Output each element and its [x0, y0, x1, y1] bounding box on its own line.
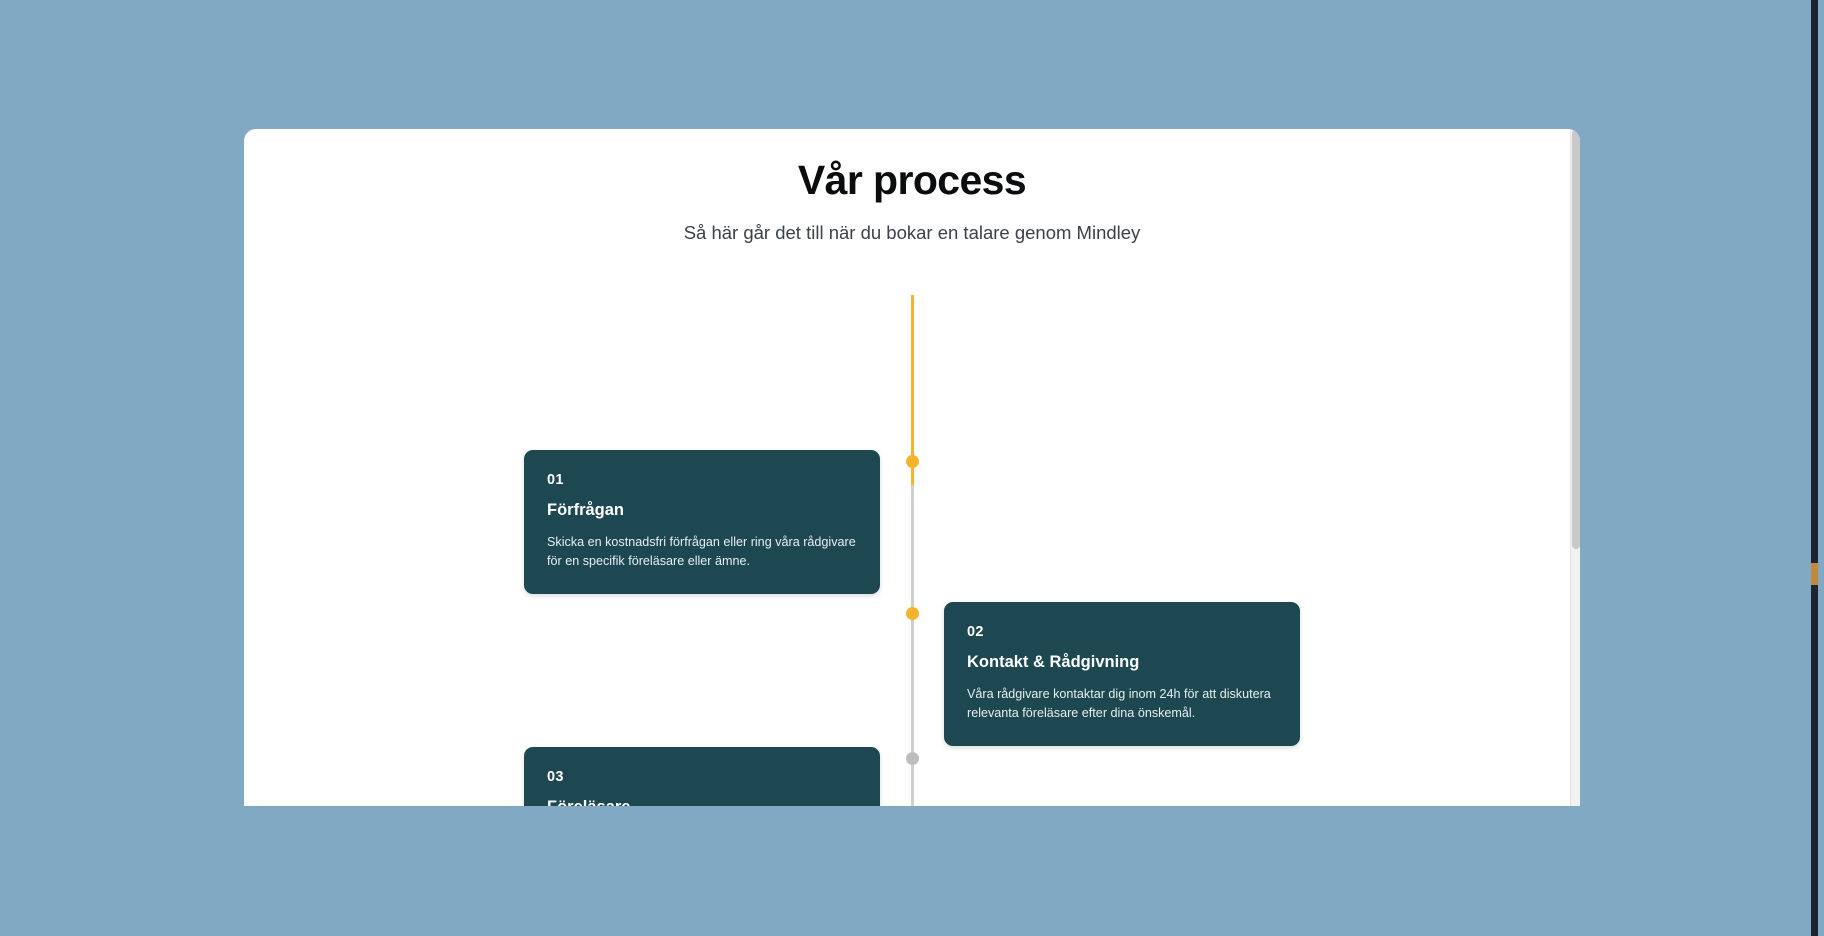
panel-scrollbar[interactable] [1570, 129, 1580, 806]
panel-scroll-area: Vår process Så här går det till när du b… [244, 129, 1580, 806]
step-number: 02 [967, 624, 1277, 641]
step-number: 01 [547, 472, 857, 489]
timeline-dot-02 [906, 607, 919, 620]
step-title: Föreläsare [547, 797, 857, 806]
step-title: Förfrågan [547, 500, 857, 521]
window-scrollbar[interactable] [1811, 0, 1818, 936]
step-title: Kontakt & Rådgivning [967, 652, 1277, 673]
timeline-dot-03 [906, 752, 919, 765]
section-header: Vår process Så här går det till när du b… [244, 129, 1580, 245]
content-panel: Vår process Så här går det till när du b… [244, 129, 1580, 806]
step-description: Våra rådgivare kontaktar dig inom 24h fö… [967, 685, 1277, 722]
step-description: Skicka en kostnadsfri förfrågan eller ri… [547, 533, 857, 570]
process-step-01[interactable]: 01 Förfrågan Skicka en kostnadsfri förfr… [524, 450, 880, 594]
timeline-dot-01 [906, 455, 919, 468]
page-title: Vår process [244, 158, 1580, 203]
process-step-03[interactable]: 03 Föreläsare Vi kontaktar aktuella före… [524, 747, 880, 806]
process-step-02[interactable]: 02 Kontakt & Rådgivning Våra rådgivare k… [944, 602, 1300, 746]
step-number: 03 [547, 769, 857, 786]
process-timeline: 01 Förfrågan Skicka en kostnadsfri förfr… [244, 295, 1580, 806]
panel-scrollbar-thumb[interactable] [1572, 129, 1580, 549]
page-subtitle: Så här går det till när du bokar en tala… [244, 221, 1580, 245]
window-scrollbar-thumb[interactable] [1811, 563, 1818, 585]
